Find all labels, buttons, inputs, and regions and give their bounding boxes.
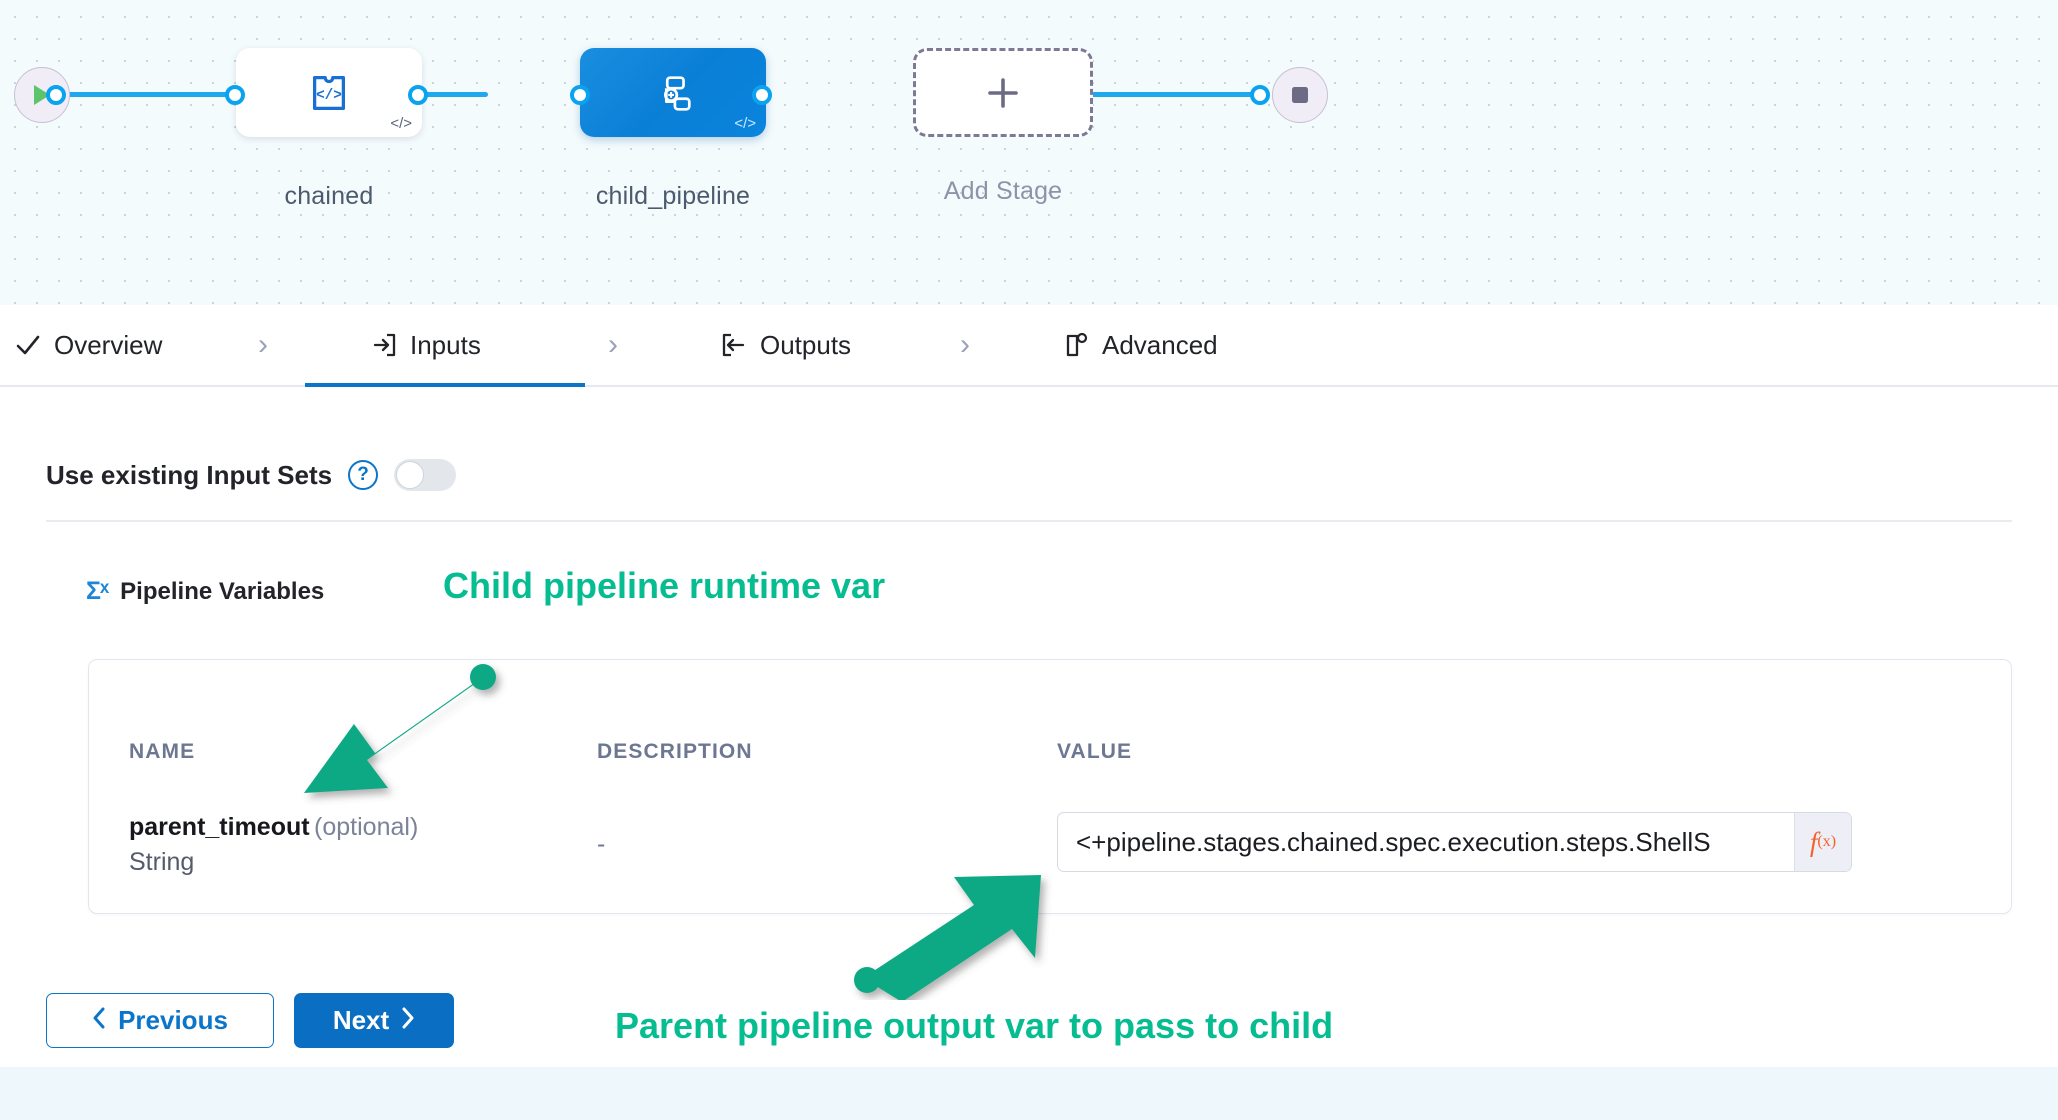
pipeline-chain-icon [650,70,696,116]
tab-overview[interactable]: Overview [14,305,162,385]
chevron-left-icon [92,1005,106,1036]
question-mark-icon[interactable]: ? [348,460,378,490]
code-brackets-icon: </> [390,116,412,131]
advanced-gear-doc-icon [1062,331,1090,359]
svg-text:</>: </> [316,87,342,103]
column-header-value: VALUE [1057,740,1132,764]
stage-label-chained: chained [236,182,422,211]
tab-separator-3: › [960,305,970,385]
section-divider [46,520,2012,522]
variable-optional-tag: (optional) [314,813,418,841]
end-node[interactable] [1272,67,1328,123]
column-header-name: NAME [129,740,195,764]
tab-inputs[interactable]: Inputs [370,305,481,385]
port-end-in[interactable] [1250,85,1270,105]
next-button[interactable]: Next [294,993,454,1048]
check-icon [14,331,42,359]
plus-icon [982,72,1024,114]
tab-outputs-label: Outputs [760,330,851,361]
variable-value-input[interactable]: <+pipeline.stages.chained.spec.execution… [1058,813,1794,871]
inputs-arrow-in-icon [370,331,398,359]
tab-outputs[interactable]: Outputs [720,305,851,385]
inputs-panel: Use existing Input Sets ? Σˣ Pipeline Va… [0,387,2058,1067]
pipeline-canvas[interactable]: </> </> chained </> child_pipeline Add S… [0,0,2058,305]
tab-advanced[interactable]: Advanced [1062,305,1218,385]
edge-start-to-chained [52,92,237,97]
chevron-right-icon [401,1005,415,1036]
use-existing-input-sets-label: Use existing Input Sets [46,460,332,491]
pipeline-variables-title: Pipeline Variables [120,578,324,606]
previous-button-label: Previous [118,1005,228,1036]
table-row: parent_timeout (optional) String [129,813,418,877]
variable-value-field[interactable]: <+pipeline.stages.chained.spec.execution… [1057,812,1852,872]
variable-description: - [597,830,605,859]
port-chained-out[interactable] [408,85,428,105]
port-chained-in[interactable] [225,85,245,105]
pipeline-variables-table: NAME DESCRIPTION VALUE parent_timeout (o… [88,659,2012,914]
next-button-label: Next [333,1005,389,1036]
stage-node-child-pipeline[interactable]: </> [580,48,766,137]
port-child-out[interactable] [752,85,772,105]
stage-label-child-pipeline: child_pipeline [580,182,766,211]
port-start-out[interactable] [46,85,66,105]
code-brackets-icon: </> [734,116,756,131]
variable-type: String [129,848,418,877]
toggle-knob [396,461,424,489]
outputs-arrow-out-icon [720,331,748,359]
use-existing-input-sets-row: Use existing Input Sets ? [46,459,456,491]
tab-separator-2: › [608,305,618,385]
use-existing-input-sets-toggle[interactable] [394,459,456,491]
bottom-bar [0,1067,2058,1120]
stage-node-add-stage[interactable] [913,48,1093,137]
expression-fx-button[interactable]: f(x) [1794,813,1851,871]
tab-inputs-label: Inputs [410,330,481,361]
pipeline-variables-header: Σˣ Pipeline Variables [86,577,324,606]
stop-icon [1290,85,1310,105]
port-child-in[interactable] [570,85,590,105]
stage-node-chained[interactable]: </> </> [236,48,422,137]
stage-config-tabbar: Overview › Inputs › Outputs › Ad [0,305,2058,387]
annotation-parent-output-var: Parent pipeline output var to pass to ch… [615,1005,1333,1047]
annotation-child-runtime-var: Child pipeline runtime var [443,565,885,607]
custom-stage-code-icon: </> [306,70,352,116]
column-header-description: DESCRIPTION [597,740,753,764]
sigma-variables-icon: Σˣ [86,577,108,606]
tab-advanced-label: Advanced [1102,330,1218,361]
tab-overview-label: Overview [54,330,162,361]
tab-separator-1: › [258,305,268,385]
stage-label-add-stage: Add Stage [913,177,1093,206]
previous-button[interactable]: Previous [46,993,274,1048]
variable-name: parent_timeout [129,813,310,841]
